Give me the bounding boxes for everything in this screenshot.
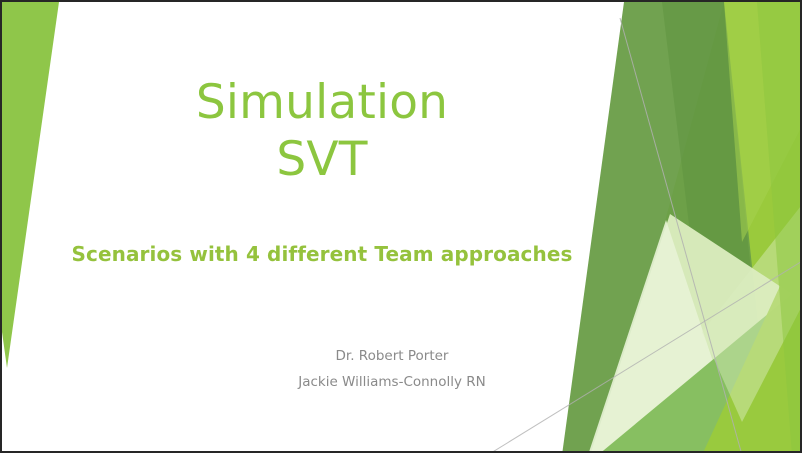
author-line-2: Jackie Williams-Connolly RN: [182, 369, 602, 395]
slide-text-layer: Simulation SVT Scenarios with 4 differen…: [2, 2, 802, 453]
author-line-1: Dr. Robert Porter: [182, 343, 602, 369]
slide-authors: Dr. Robert Porter Jackie Williams-Connol…: [182, 343, 602, 396]
slide-subtitle: Scenarios with 4 different Team approach…: [42, 242, 602, 266]
slide-title: Simulation SVT: [62, 74, 582, 189]
subtitle-text: Scenarios with 4 different Team approach…: [42, 242, 602, 266]
presentation-slide: Simulation SVT Scenarios with 4 differen…: [0, 0, 802, 453]
title-line-1: Simulation: [62, 74, 582, 131]
title-line-2: SVT: [62, 131, 582, 188]
